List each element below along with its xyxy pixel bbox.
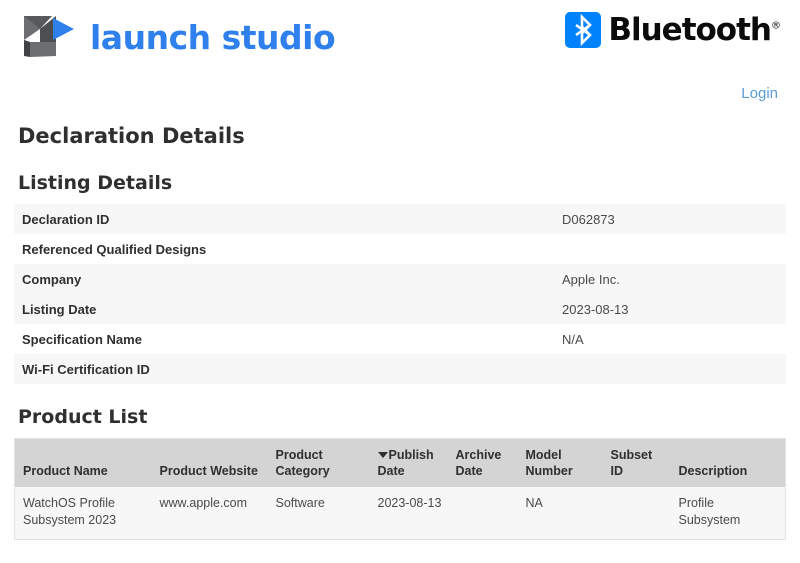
listing-label: Listing Date [14,294,554,324]
listing-value [554,234,786,264]
login-bar: Login [741,85,778,103]
column-header-subset-id[interactable]: Subset ID [603,439,671,488]
registered-mark: ® [771,20,780,31]
product-list-table: Product Name Product Website Product Cat… [14,438,786,540]
column-header-archive-date[interactable]: Archive Date [448,439,518,488]
main-content: Declaration Details Listing Details Decl… [0,122,800,540]
column-header-product-name[interactable]: Product Name [15,439,152,488]
listing-details-table: Declaration ID D062873 Referenced Qualif… [14,204,786,384]
table-row: Wi-Fi Certification ID [14,354,786,384]
brand-name-text: launch studio [90,21,335,54]
listing-value [554,354,786,384]
login-link[interactable]: Login [741,85,778,102]
cell-product-website: www.apple.com [152,487,268,540]
product-list-body: WatchOS Profile Subsystem 2023 www.apple… [15,487,786,540]
launch-studio-brand[interactable]: launch studio [22,12,335,62]
launch-studio-logo-icon [22,12,80,62]
bluetooth-rune-icon [565,12,601,48]
table-row: Company Apple Inc. [14,264,786,294]
table-row: Specification Name N/A [14,324,786,354]
cell-subset-id [603,487,671,540]
product-list-header: Product Name Product Website Product Cat… [15,439,786,488]
bluetooth-wordmark: Bluetooth® [608,15,780,46]
column-header-model-number[interactable]: Model Number [518,439,603,488]
listing-label: Wi-Fi Certification ID [14,354,554,384]
table-row: Listing Date 2023-08-13 [14,294,786,324]
page-title: Declaration Details [14,122,786,150]
column-header-product-category[interactable]: Product Category [268,439,370,488]
bluetooth-word-text: Bluetooth [608,12,771,48]
product-list-section-title: Product List [14,404,786,430]
listing-value: Apple Inc. [554,264,786,294]
bluetooth-logo: Bluetooth® [565,12,780,48]
column-header-description[interactable]: Description [671,439,786,488]
cell-product-name: WatchOS Profile Subsystem 2023 [15,487,152,540]
listing-value: N/A [554,324,786,354]
listing-label: Declaration ID [14,204,554,234]
column-header-publish-date[interactable]: Publish Date [370,439,448,488]
listing-details-section-title: Listing Details [14,170,786,196]
table-header-row: Product Name Product Website Product Cat… [15,439,786,488]
cell-description: Profile Subsystem [671,487,786,540]
cell-archive-date [448,487,518,540]
listing-label: Referenced Qualified Designs [14,234,554,264]
listing-details-body: Declaration ID D062873 Referenced Qualif… [14,204,786,384]
listing-label: Company [14,264,554,294]
table-row: Declaration ID D062873 [14,204,786,234]
table-row[interactable]: WatchOS Profile Subsystem 2023 www.apple… [15,487,786,540]
listing-value: D062873 [554,204,786,234]
cell-model-number: NA [518,487,603,540]
listing-value: 2023-08-13 [554,294,786,324]
site-header: launch studio Bluetooth® Login [0,0,800,76]
table-row: Referenced Qualified Designs [14,234,786,264]
listing-label: Specification Name [14,324,554,354]
column-header-product-website[interactable]: Product Website [152,439,268,488]
declaration-details-page: launch studio Bluetooth® Login Declarati… [0,0,800,563]
caret-down-icon [378,452,388,458]
cell-product-category: Software [268,487,370,540]
cell-publish-date: 2023-08-13 [370,487,448,540]
